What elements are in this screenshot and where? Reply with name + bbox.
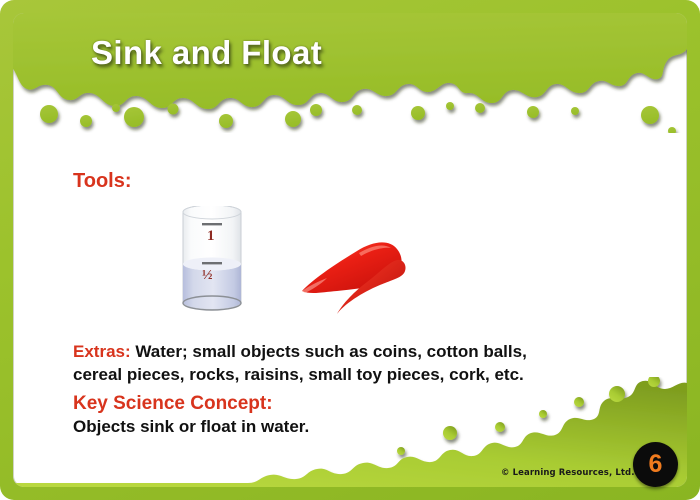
tools-label: Tools: xyxy=(73,170,132,193)
copyright-notice: © Learning Resources, Ltd. xyxy=(501,468,635,478)
concept-label: Key Science Concept: xyxy=(73,393,273,415)
extras-text-line2: cereal pieces, rocks, raisins, small toy… xyxy=(73,363,633,386)
top-green-splatter xyxy=(13,13,687,133)
concept-text: Objects sink or float in water. xyxy=(73,417,309,437)
cup-mark-full: 1 xyxy=(207,228,215,244)
extras-text-line1: Water; small objects such as coins, cott… xyxy=(135,342,526,361)
extras-line-1: Extras: Water; small objects such as coi… xyxy=(73,340,633,363)
page-number-badge: 6 xyxy=(633,442,678,487)
extras-label: Extras: xyxy=(73,342,131,361)
cup-mark-half: ½ xyxy=(202,268,213,283)
page-number: 6 xyxy=(649,452,663,477)
extras-block: Extras: Water; small objects such as coi… xyxy=(73,340,633,386)
activity-card: Sink and Float Tools: xyxy=(0,0,700,500)
tongs-icon xyxy=(293,229,413,324)
card-white-sheet: Sink and Float Tools: xyxy=(13,13,687,487)
page-title: Sink and Float xyxy=(91,34,322,72)
measuring-cup-icon: 1 ½ xyxy=(176,206,248,311)
